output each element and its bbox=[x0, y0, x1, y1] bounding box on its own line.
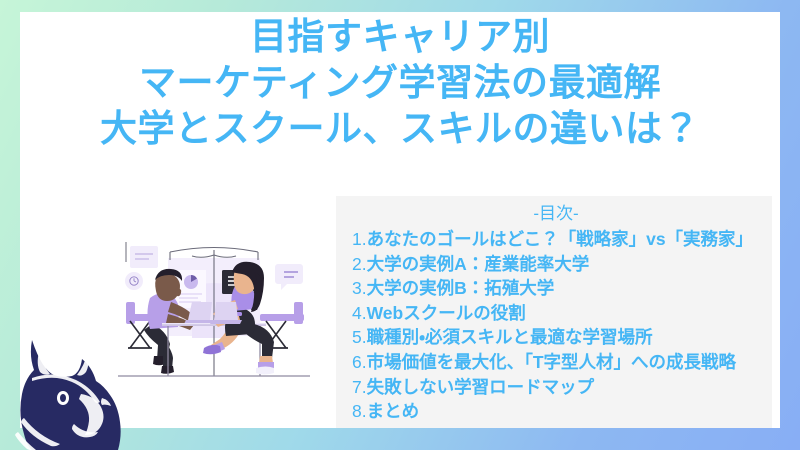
toc-item[interactable]: 2. 大学の実例A：産業能率大学 bbox=[350, 252, 762, 277]
toc-item-number: 7. bbox=[350, 375, 367, 400]
toc-heading: -目次- bbox=[350, 202, 762, 226]
toc-item-label: 大学の実例B：拓殖大学 bbox=[367, 276, 555, 301]
toc-item-number: 1. bbox=[350, 227, 367, 252]
two-people-working-illustration bbox=[108, 228, 320, 388]
french-bulldog-logo-icon bbox=[2, 332, 128, 450]
toc-item[interactable]: 7. 失敗しない学習ロードマップ bbox=[350, 375, 762, 400]
toc-item-label: 職種別・必須スキルと最適な学習場所 bbox=[367, 325, 653, 350]
toc-item-label: あなたのゴールはどこ？「戦略家」vs「実務家」 bbox=[367, 227, 753, 252]
toc-item-number: 2. bbox=[350, 252, 367, 277]
page-title: 目指すキャリア別 マーケティング学習法の最適解 大学とスクール、スキルの違いは？ bbox=[0, 14, 800, 152]
toc-item-number: 6. bbox=[350, 350, 367, 375]
toc-item-label: まとめ bbox=[367, 399, 420, 424]
title-line-3: 大学とスクール、スキルの違いは？ bbox=[0, 106, 800, 152]
toc-item-label: 失敗しない学習ロードマップ bbox=[367, 375, 595, 400]
title-line-1: 目指すキャリア別 bbox=[0, 14, 800, 60]
toc-item[interactable]: 8. まとめ bbox=[350, 399, 762, 424]
toc-item[interactable]: 4. Webスクールの役割 bbox=[350, 301, 762, 326]
toc-item-number: 8. bbox=[350, 399, 367, 424]
toc-item-number: 4. bbox=[350, 301, 367, 326]
toc-item-label: 大学の実例A：産業能率大学 bbox=[367, 252, 590, 277]
toc-item-number: 3. bbox=[350, 276, 367, 301]
toc-item-label: 市場価値を最大化、「T字型人材」への成長戦略 bbox=[367, 350, 736, 375]
toc-item[interactable]: 5. 職種別・必須スキルと最適な学習場所 bbox=[350, 325, 762, 350]
table-of-contents-panel: -目次- 1. あなたのゴールはどこ？「戦略家」vs「実務家」 2. 大学の実例… bbox=[336, 196, 772, 428]
toc-item-number: 5. bbox=[350, 325, 367, 350]
slide-canvas: 目指すキャリア別 マーケティング学習法の最適解 大学とスクール、スキルの違いは？ bbox=[0, 0, 800, 450]
title-line-2: マーケティング学習法の最適解 bbox=[0, 60, 800, 106]
toc-item[interactable]: 1. あなたのゴールはどこ？「戦略家」vs「実務家」 bbox=[350, 227, 762, 252]
toc-item[interactable]: 6. 市場価値を最大化、「T字型人材」への成長戦略 bbox=[350, 350, 762, 375]
toc-item-label: Webスクールの役割 bbox=[367, 301, 526, 326]
toc-list: 1. あなたのゴールはどこ？「戦略家」vs「実務家」 2. 大学の実例A：産業能… bbox=[350, 227, 762, 424]
toc-item[interactable]: 3. 大学の実例B：拓殖大学 bbox=[350, 276, 762, 301]
